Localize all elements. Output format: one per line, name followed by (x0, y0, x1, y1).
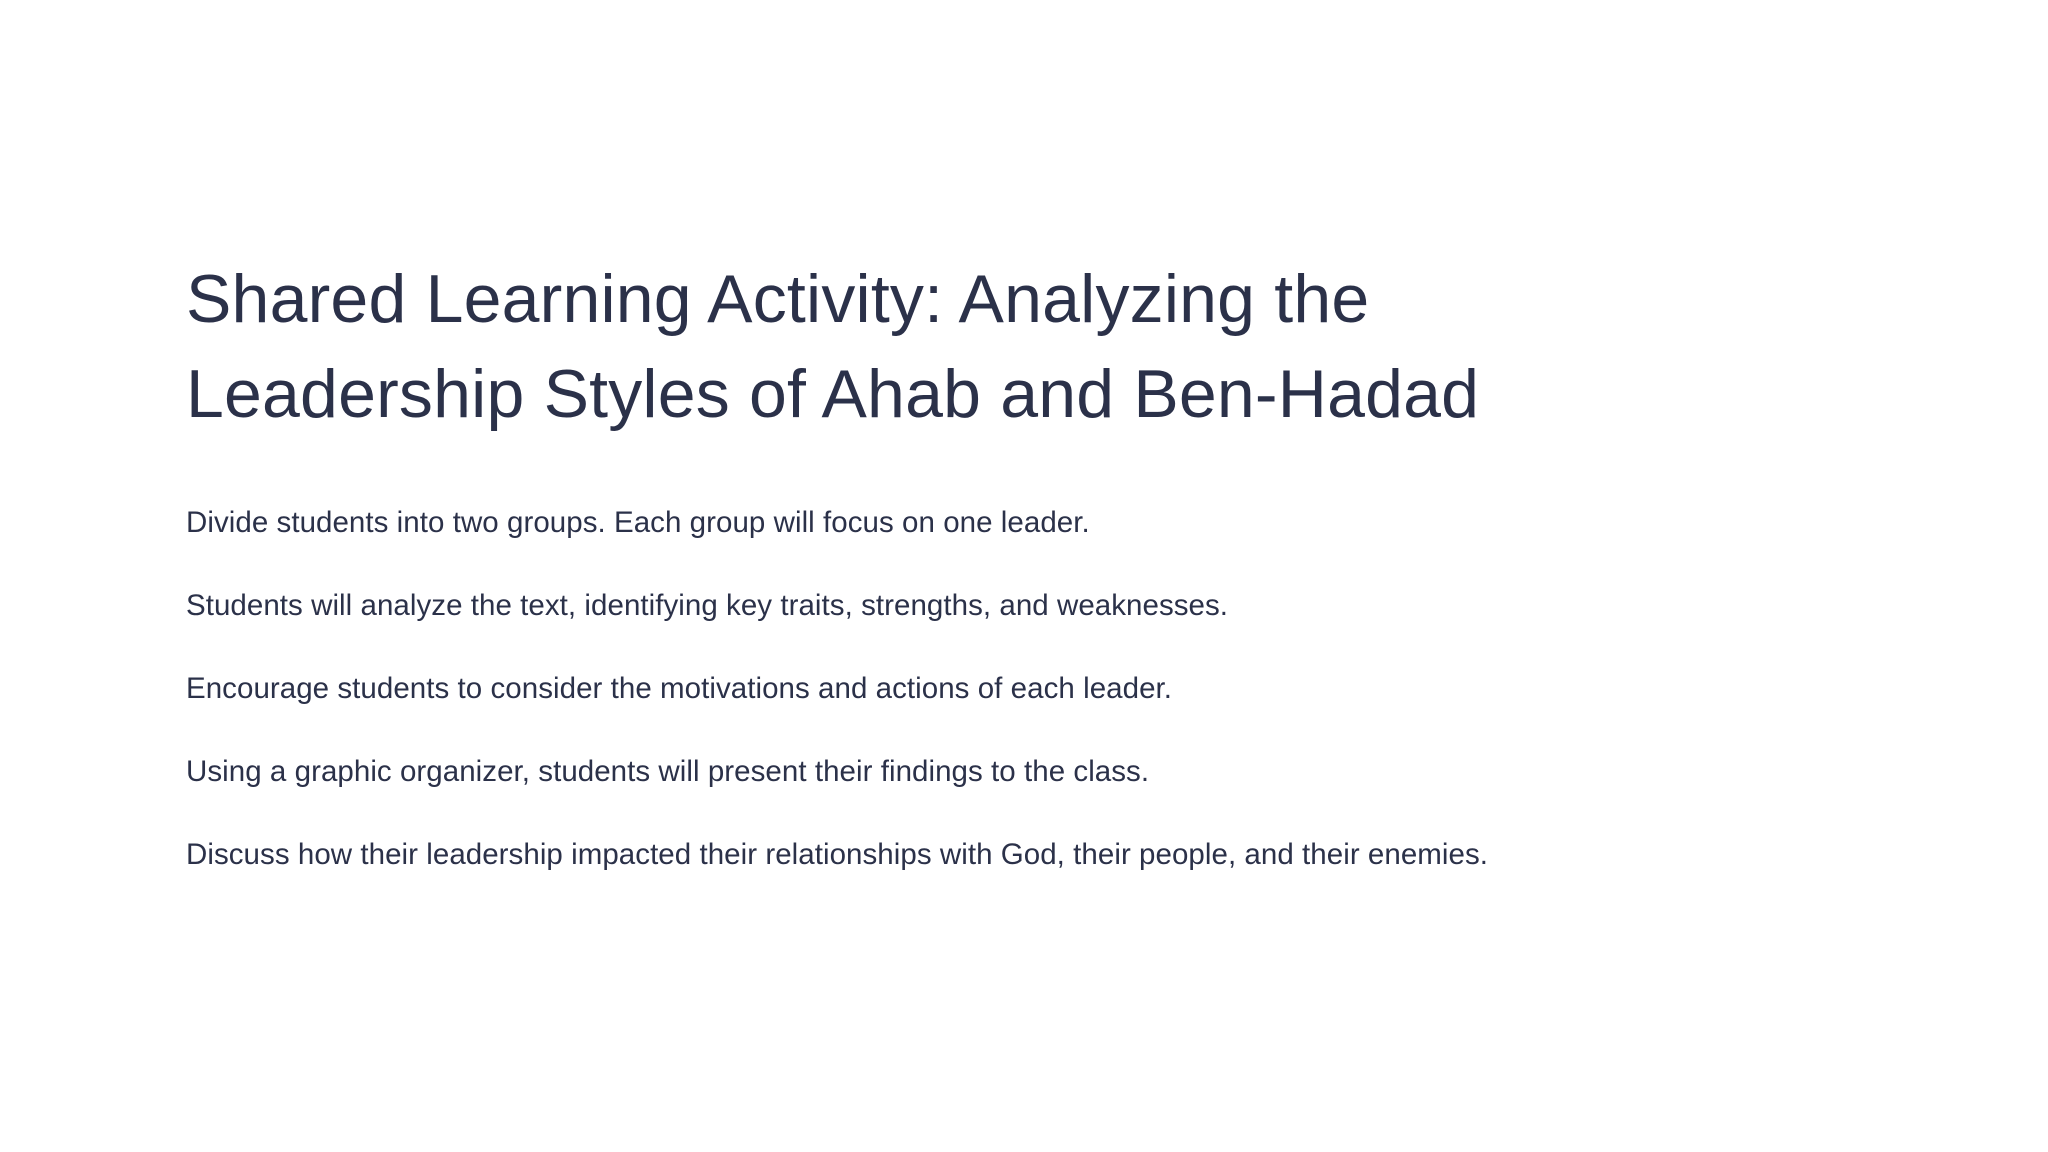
list-item: Students will analyze the text, identify… (186, 587, 1846, 625)
list-item: Divide students into two groups. Each gr… (186, 504, 1846, 542)
list-item: Using a graphic organizer, students will… (186, 753, 1846, 791)
list-item: Encourage students to consider the motiv… (186, 670, 1846, 708)
presentation-slide: Shared Learning Activity: Analyzing the … (0, 0, 2048, 1152)
page-title: Shared Learning Activity: Analyzing the … (186, 252, 1666, 442)
slide-bullet-list: Divide students into two groups. Each gr… (186, 504, 1886, 874)
list-item: Discuss how their leadership impacted th… (186, 836, 1846, 874)
slide-content-area: Shared Learning Activity: Analyzing the … (186, 252, 1886, 874)
